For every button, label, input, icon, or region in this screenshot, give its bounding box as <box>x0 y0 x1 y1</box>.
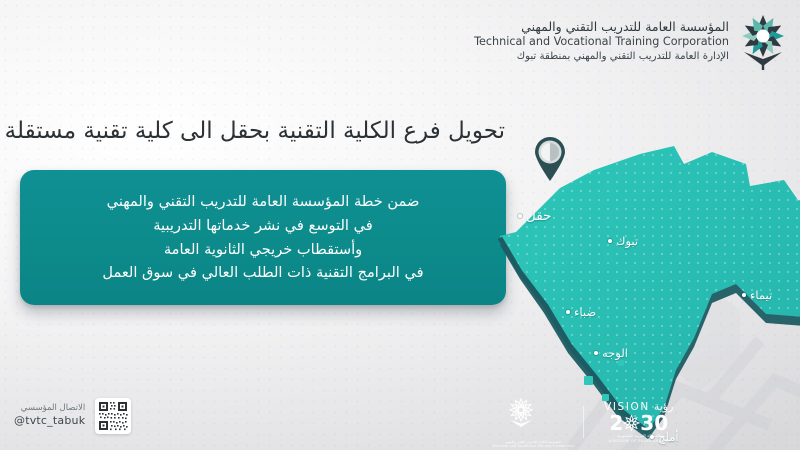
tabuk-region-map: حقل تبوك ضباء الوجه أملج تيماء <box>498 108 800 428</box>
city-name-tayma: تيماء <box>750 288 772 302</box>
tvtc-footer-english: Technical and Vocational Training Corpor… <box>492 444 574 448</box>
city-dot-icon <box>608 239 612 243</box>
logo-divider <box>583 406 584 438</box>
corporate-contact-block[interactable]: الاتصال المؤسسي @tvtc_tabuk <box>14 398 131 434</box>
header-english-title: Technical and Vocational Training Corpor… <box>474 35 729 50</box>
brand-header: المؤسسة العامة للتدريب التقني والمهني Te… <box>474 12 790 70</box>
tvtc-footer-logo: المؤسسة العامة للتدريب التقني والمهني Te… <box>492 396 574 449</box>
city-label-duba: ضباء <box>566 305 596 319</box>
card-line-4: في البرامج التقنية ذات الطلب العالي في س… <box>102 263 423 283</box>
city-label-haql: حقل <box>518 208 551 224</box>
social-handle[interactable]: @tvtc_tabuk <box>14 414 85 428</box>
map-pin-haql[interactable] <box>532 136 568 182</box>
qr-code-icon[interactable] <box>95 398 131 434</box>
qr-label: الاتصال المؤسسي <box>14 403 85 414</box>
city-name-haql: حقل <box>526 208 551 224</box>
city-dot-icon <box>594 351 598 355</box>
description-card: ضمن خطة المؤسسة العامة للتدريب التقني وا… <box>20 170 506 305</box>
city-name-tabuk: تبوك <box>616 234 638 248</box>
city-dot-icon <box>566 310 570 314</box>
footer-logo-group: المؤسسة العامة للتدريب التقني والمهني Te… <box>492 396 685 449</box>
header-arabic-title: المؤسسة العامة للتدريب التقني والمهني <box>474 19 729 36</box>
city-label-tabuk: تبوك <box>608 234 638 248</box>
card-line-1: ضمن خطة المؤسسة العامة للتدريب التقني وا… <box>107 192 420 212</box>
city-dot-icon <box>518 214 522 218</box>
city-dot-icon <box>742 293 746 297</box>
vision-emblem-icon <box>623 414 640 432</box>
card-line-2: في التوسع في نشر خدماتها التدريبية <box>153 216 373 236</box>
vision-kingdom-english: KINGDOM OF SAUDI ARABIA <box>593 439 685 444</box>
city-label-alwajh: الوجه <box>594 346 628 360</box>
vision-2030-logo: VISION رؤية 2 <box>593 400 685 444</box>
card-line-3: وأستقطاب خريجي الثانوية العامة <box>164 240 362 260</box>
city-name-alwajh: الوجه <box>602 346 628 360</box>
city-label-tayma: تيماء <box>742 288 772 302</box>
infographic-canvas: المؤسسة العامة للتدريب التقني والمهني Te… <box>0 0 800 450</box>
city-name-duba: ضباء <box>574 305 596 319</box>
tvtc-star-logo-icon <box>736 12 790 70</box>
page-title: تحويل فرع الكلية التقنية بحقل الى كلية ت… <box>5 118 505 144</box>
header-arabic-subtitle: الإدارة العامة للتدريب التقني والمهني بم… <box>474 50 729 63</box>
